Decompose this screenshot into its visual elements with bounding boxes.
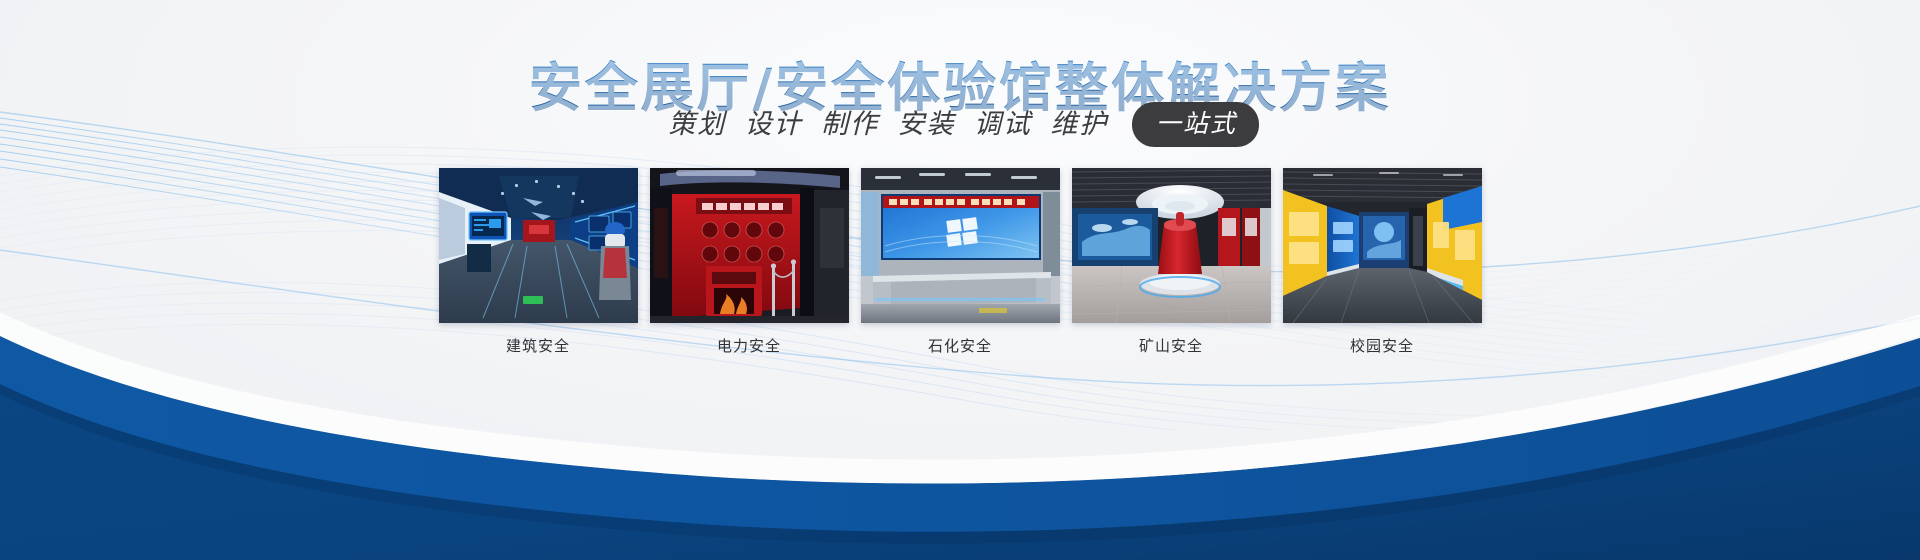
red-fire-equipment-display-image[interactable] <box>650 168 849 323</box>
thumbnail-caption: 建筑安全 <box>439 336 638 356</box>
thumbnail-caption: 电力安全 <box>650 336 849 356</box>
bell-dome-exhibition-image[interactable] <box>1072 168 1271 323</box>
promo-banner: 安全展厅/安全体验馆整体解决方案 策划 设计 制作 安装 调试 维护 一站式 <box>0 0 1920 560</box>
thumbnail-caption: 石化安全 <box>861 336 1060 356</box>
thumbnail-item[interactable]: 石化安全 <box>861 168 1060 356</box>
yellow-blue-campus-corridor-image[interactable] <box>1283 168 1482 323</box>
thumbnail-item[interactable]: 电力安全 <box>650 168 849 356</box>
subtitle-word-maintenance: 维护 <box>1050 106 1108 144</box>
subtitle-word-planning: 策划 <box>668 106 726 144</box>
subtitle-word-installation: 安装 <box>897 106 955 144</box>
thumbnail-item[interactable]: 矿山安全 <box>1072 168 1271 356</box>
thumbnail-caption: 矿山安全 <box>1072 336 1271 356</box>
thumbnail-row: 建筑安全 <box>0 168 1920 356</box>
exhibition-hall-blue-corridor-image[interactable] <box>439 168 638 323</box>
subtitle-word-production: 制作 <box>821 106 879 144</box>
thumbnail-item[interactable]: 校园安全 <box>1283 168 1482 356</box>
one-stop-badge: 一站式 <box>1132 102 1259 147</box>
large-led-screen-hall-image[interactable] <box>861 168 1060 323</box>
thumbnail-caption: 校园安全 <box>1283 336 1482 356</box>
subtitle-word-debugging: 调试 <box>974 106 1032 144</box>
thumbnail-item[interactable]: 建筑安全 <box>439 168 638 356</box>
subtitle-container: 策划 设计 制作 安装 调试 维护 一站式 <box>0 102 1920 147</box>
subtitle-word-design: 设计 <box>745 106 803 144</box>
